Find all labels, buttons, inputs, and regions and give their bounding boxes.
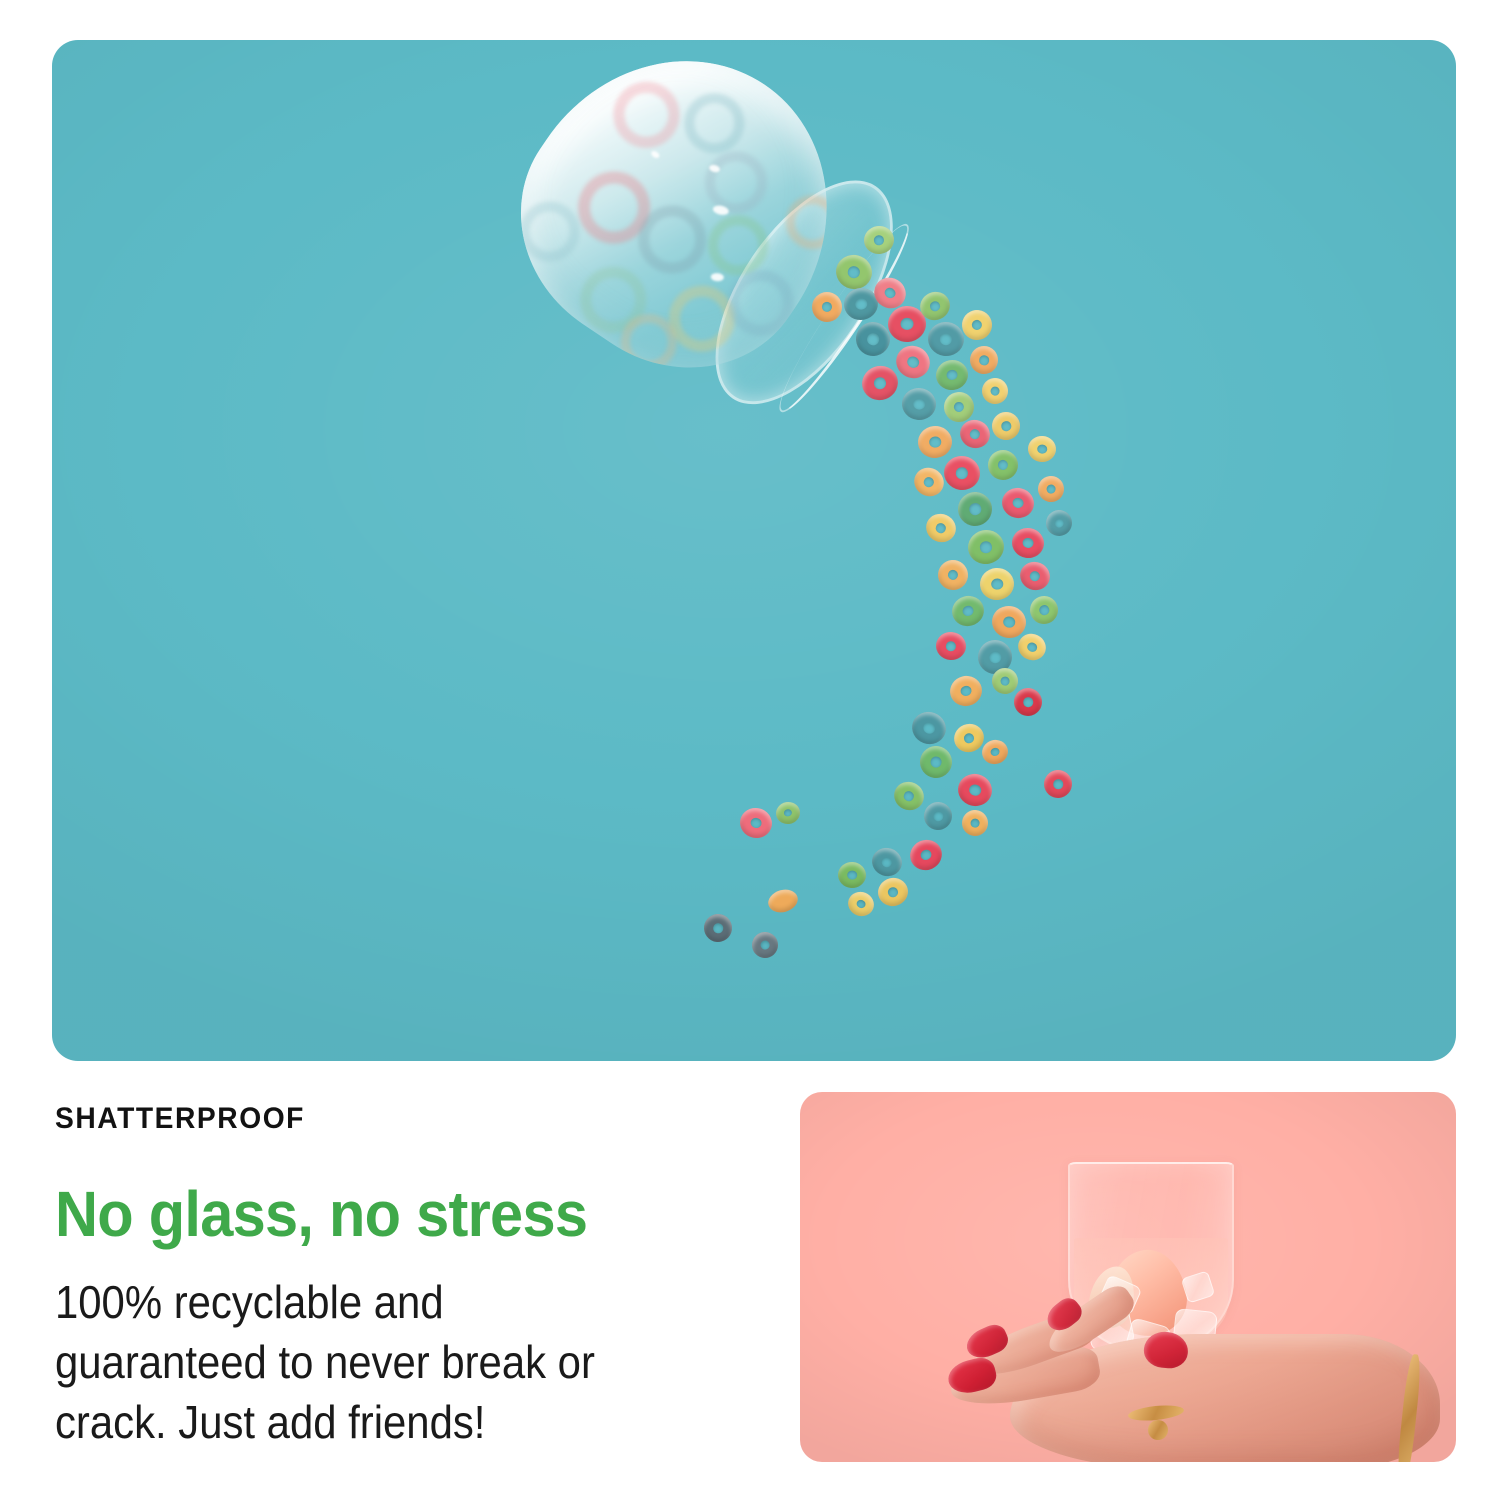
secondary-hand-alt: Open palm with red manicure and gold bra… xyxy=(0,0,1,1)
tipped-glass-illustration xyxy=(456,40,989,509)
feature-copy-block: SHATTERPROOF No glass, no stress 100% re… xyxy=(55,1104,715,1452)
secondary-glass-alt: Clear stemless wine glass with ice and r… xyxy=(0,0,1,1)
hero-trail-alt: Arc of multicolored cereal loops falling… xyxy=(0,0,1,1)
hero-image-alt: Tipped clear stemless wine glass full of… xyxy=(0,0,1,1)
finger-ring-charm xyxy=(1148,1420,1168,1440)
hero-image-panel xyxy=(52,40,1456,1061)
body-copy: 100% recyclable and guaranteed to never … xyxy=(55,1272,656,1452)
lifestyle-image-panel xyxy=(800,1092,1456,1462)
hand-illustration xyxy=(950,1320,1456,1462)
headline: No glass, no stress xyxy=(55,1182,669,1246)
eyebrow-label: SHATTERPROOF xyxy=(55,1104,675,1134)
